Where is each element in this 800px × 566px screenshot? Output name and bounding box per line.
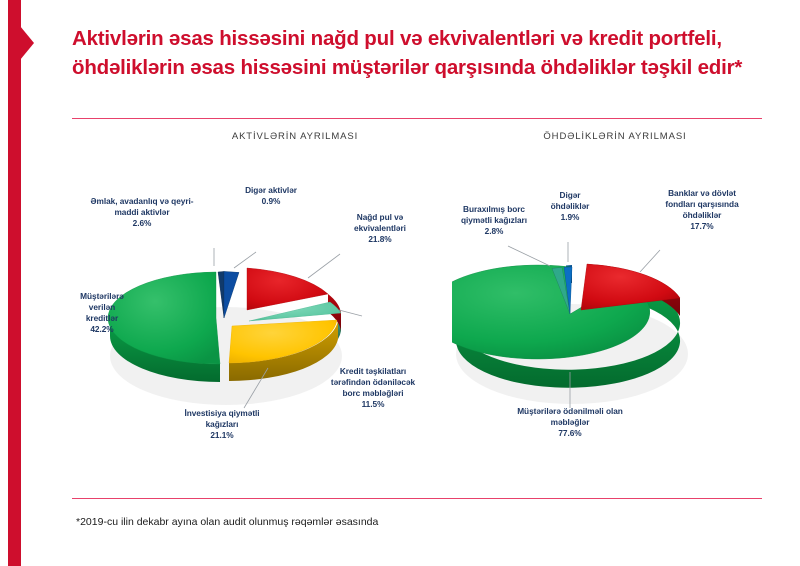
leader-banks — [640, 250, 660, 272]
callout-line-2: ekvivalentləri — [330, 223, 430, 234]
callout-line-1: Nağd pul və — [330, 212, 430, 223]
callout-client-loans: Müştərilərə verilən kreditlər 42.2% — [62, 291, 142, 335]
callout-value: 21.8% — [330, 234, 430, 245]
callout-other-liabilities: Digər öhdəliklər 1.9% — [530, 190, 610, 223]
leader-cash — [308, 254, 340, 278]
callout-line-2: tərəfindən ödəniləcək — [310, 377, 436, 388]
callout-line-3: borc məbləğləri — [310, 388, 436, 399]
callout-investment-securities: İnvestisiya qiymətli kağızları 21.1% — [160, 408, 284, 441]
callout-line-2: verilən — [62, 302, 142, 313]
chart-title-assets: AKTİVLƏRİN AYRILMASI — [150, 131, 440, 142]
callout-line-1: Kredit təşkilatları — [310, 366, 436, 377]
callout-client-payables: Müştərilərə ödənilməli olan məbləğlər 77… — [460, 406, 680, 439]
callout-cash-equivalents: Nağd pul və ekvivalentləri 21.8% — [330, 212, 430, 245]
callout-line-1: Digər aktivlər — [216, 185, 326, 196]
callout-line-2: öhdəliklər — [530, 201, 610, 212]
callout-value: 11.5% — [310, 399, 436, 410]
page-title: Aktivlərin əsas hissəsini nağd pul və ek… — [72, 24, 762, 82]
pie-liabilities-svg — [452, 222, 742, 422]
footnote: *2019-cu ilin dekabr ayına olan audit ol… — [76, 516, 378, 528]
callout-line-3: öhdəliklər — [640, 210, 764, 221]
callout-line-1: Müştərilərə ödənilməli olan — [460, 406, 680, 417]
callout-other-assets: Digər aktivlər 0.9% — [216, 185, 326, 207]
callout-line-1: Banklar və dövlət — [640, 188, 764, 199]
callout-line-3: kreditlər — [62, 313, 142, 324]
callout-value: 17.7% — [640, 221, 764, 232]
callout-value: 21.1% — [160, 430, 284, 441]
slide-canvas: Aktivlərin əsas hissəsini nağd pul və ek… — [0, 0, 800, 566]
accent-bar — [8, 0, 21, 566]
callout-line-1: Digər — [530, 190, 610, 201]
callout-line-1: Əmlak, avadanlıq və qeyri- — [62, 196, 222, 207]
callout-property-assets: Əmlak, avadanlıq və qeyri- maddi aktivlə… — [62, 196, 222, 229]
callout-bank-liabilities: Banklar və dövlət fondları qarşısında öh… — [640, 188, 764, 232]
callout-line-2: məbləğlər — [460, 417, 680, 428]
accent-arrow-icon — [20, 26, 34, 60]
leader-issued — [508, 246, 550, 266]
callout-line-2: fondları qarşısında — [640, 199, 764, 210]
callout-value: 42.2% — [62, 324, 142, 335]
callout-value: 2.8% — [436, 226, 552, 237]
callout-line-2: kağızları — [160, 419, 284, 430]
callout-line-1: Müştərilərə — [62, 291, 142, 302]
callout-line-2: maddi aktivlər — [62, 207, 222, 218]
callout-value: 1.9% — [530, 212, 610, 223]
divider-top — [72, 118, 762, 119]
callout-credit-institutions: Kredit təşkilatları tərəfindən ödəniləcə… — [310, 366, 436, 410]
chart-title-liabilities: ÖHDƏLİKLƏRİN AYRILMASI — [470, 131, 760, 142]
divider-bottom — [72, 498, 762, 499]
leader-credit — [339, 310, 362, 316]
leader-property — [234, 252, 256, 268]
callout-line-1: İnvestisiya qiymətli — [160, 408, 284, 419]
slice-cash — [247, 268, 328, 310]
callout-value: 77.6% — [460, 428, 680, 439]
callout-value: 0.9% — [216, 196, 326, 207]
pie-chart-liabilities — [452, 222, 742, 422]
callout-value: 2.6% — [62, 218, 222, 229]
